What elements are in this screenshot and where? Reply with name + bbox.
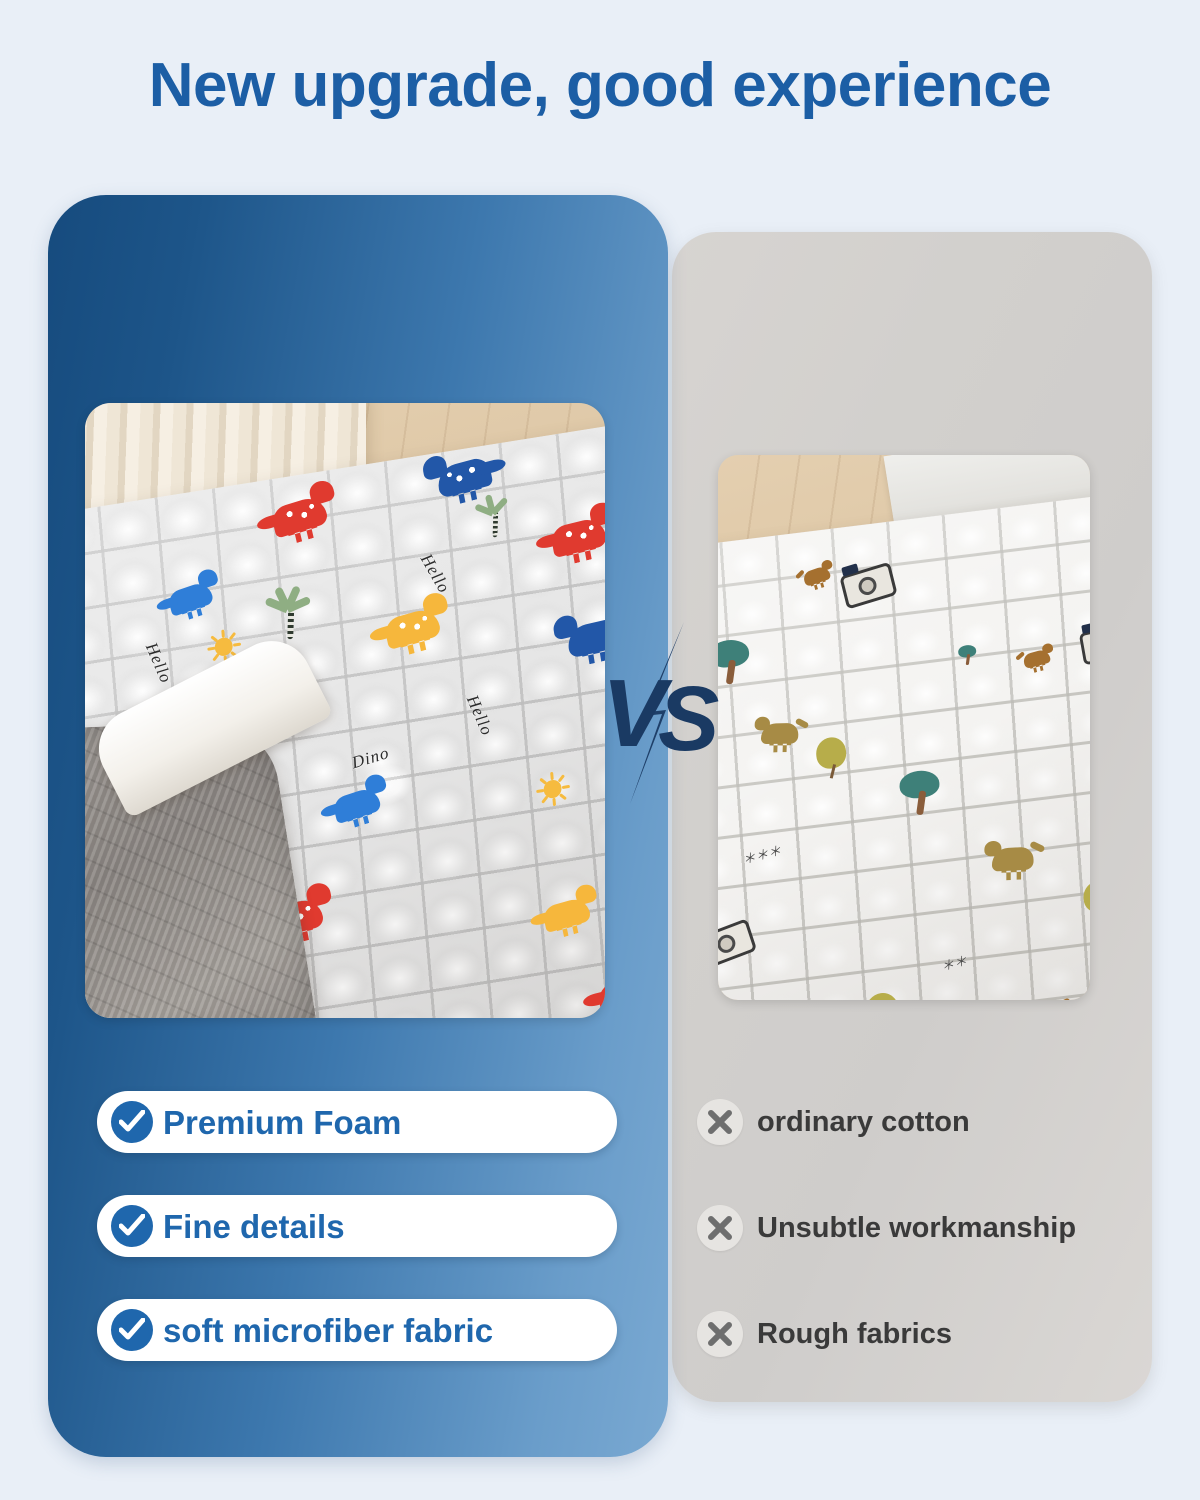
ours-product-photo: Hello Hello Dino Hello Dino Hello	[85, 403, 605, 1018]
drawback-label: ordinary cotton	[757, 1108, 970, 1137]
check-circle-icon	[111, 1101, 153, 1143]
feature-item[interactable]: Premium Foam	[97, 1091, 617, 1153]
motif-palm-2	[476, 497, 514, 539]
drawback-item[interactable]: Unsubtle workmanship	[697, 1200, 1147, 1256]
motif-tree-2	[898, 769, 941, 818]
x-circle-icon	[697, 1205, 743, 1251]
feature-label: soft microfiber fabric	[163, 1314, 493, 1347]
motif-tree-3	[958, 644, 977, 666]
motif-dog-4	[991, 847, 1033, 872]
drawback-label: Unsubtle workmanship	[757, 1214, 1076, 1243]
feature-item[interactable]: soft microfiber fabric	[97, 1299, 617, 1361]
page-title: New upgrade, good experience	[0, 50, 1200, 121]
drawback-item[interactable]: ordinary cotton	[697, 1094, 1147, 1150]
check-circle-icon	[111, 1205, 153, 1247]
motif-dog-3	[761, 724, 799, 745]
x-circle-icon	[697, 1311, 743, 1357]
motif-tree-1	[718, 638, 751, 687]
drawback-label: Rough fabrics	[757, 1320, 952, 1349]
drawback-item[interactable]: Rough fabrics	[697, 1306, 1147, 1362]
others-room-scene: ＊＊＊ ＊＊	[718, 455, 1090, 1000]
feature-item[interactable]: Fine details	[97, 1195, 617, 1257]
plain-quilted-mat: ＊＊＊ ＊＊	[718, 492, 1090, 1000]
feature-label: Fine details	[163, 1210, 345, 1243]
motif-sun-2	[534, 769, 571, 808]
others-product-photo: ＊＊＊ ＊＊	[718, 455, 1090, 1000]
ours-feature-list: Premium Foam Fine details soft microfibe…	[97, 1091, 617, 1403]
check-circle-icon	[111, 1309, 153, 1351]
feature-label: Premium Foam	[163, 1106, 401, 1139]
motif-palm-1	[267, 589, 314, 642]
motif-balloon-1	[815, 736, 848, 780]
x-circle-icon	[697, 1099, 743, 1145]
ours-room-scene: Hello Hello Dino Hello Dino Hello	[85, 403, 605, 1018]
others-drawback-list: ordinary cotton Unsubtle workmanship Rou…	[697, 1094, 1147, 1412]
